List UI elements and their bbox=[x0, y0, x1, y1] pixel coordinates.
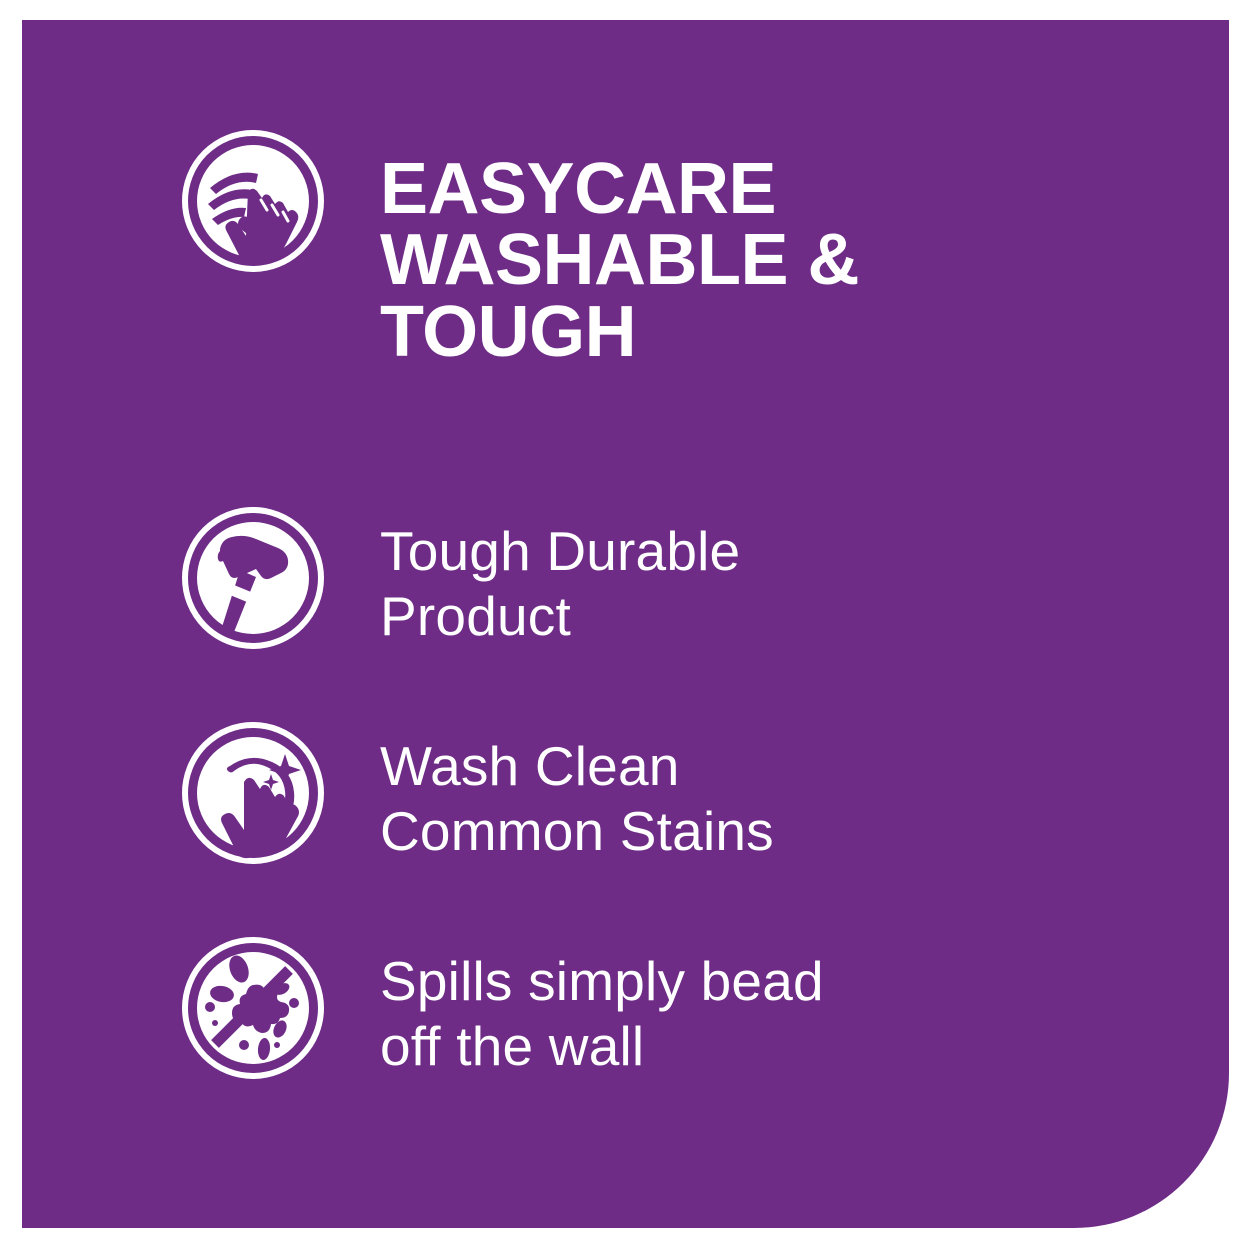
headline-text-column: EASYCARE WASHABLE & TOUGH bbox=[324, 130, 859, 368]
feature-text-column: Tough Durable Product bbox=[324, 505, 740, 649]
feature-label: Tough Durable Product bbox=[380, 519, 740, 649]
headline-row: EASYCARE WASHABLE & TOUGH bbox=[182, 130, 859, 368]
feature-row: Wash Clean Common Stains bbox=[182, 720, 774, 864]
feature-row: Tough Durable Product bbox=[182, 505, 740, 649]
hand-wipe-sparkle-icon bbox=[182, 722, 324, 864]
easycare-feature-panel: EASYCARE WASHABLE & TOUGH bbox=[22, 20, 1229, 1228]
hands-washing-icon bbox=[182, 130, 324, 272]
feature-label: Spills simply bead off the wall bbox=[380, 949, 824, 1079]
feature-text-column: Spills simply bead off the wall bbox=[324, 935, 824, 1079]
hammer-icon bbox=[182, 507, 324, 649]
feature-text-column: Wash Clean Common Stains bbox=[324, 720, 774, 864]
feature-row: Spills simply bead off the wall bbox=[182, 935, 824, 1079]
page-title: EASYCARE WASHABLE & TOUGH bbox=[380, 154, 859, 368]
feature-label: Wash Clean Common Stains bbox=[380, 734, 774, 864]
feature-list: EASYCARE WASHABLE & TOUGH bbox=[22, 20, 1229, 1228]
no-stain-splatter-icon bbox=[182, 937, 324, 1079]
